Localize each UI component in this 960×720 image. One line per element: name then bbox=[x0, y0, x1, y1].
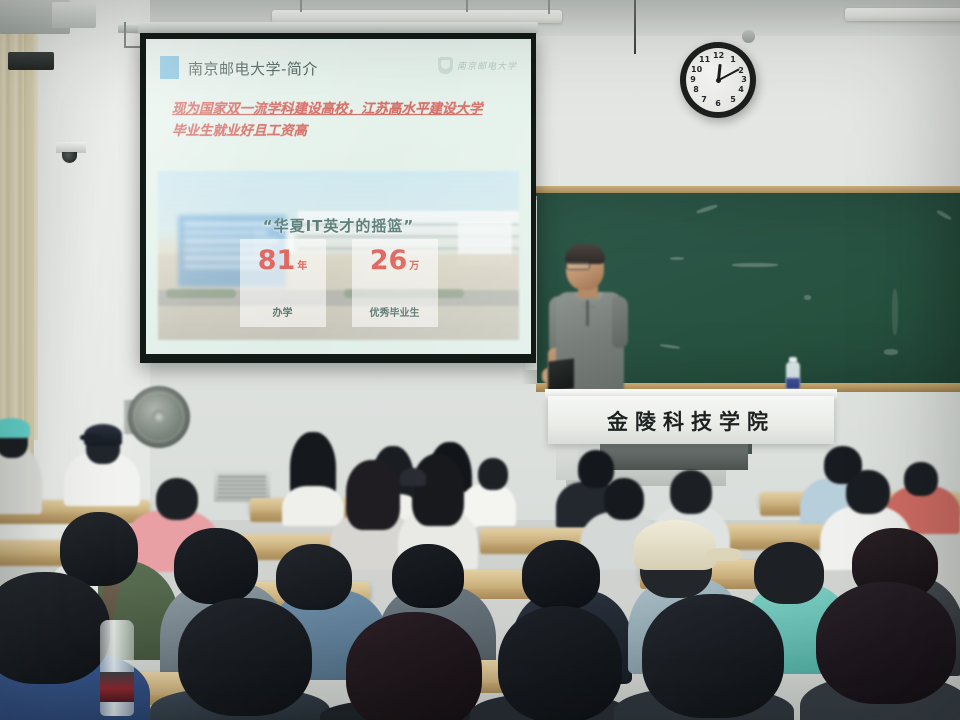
chalk-mark bbox=[732, 263, 778, 267]
podium-shelf bbox=[600, 444, 748, 470]
hair-clip bbox=[400, 468, 426, 486]
glasses-icon bbox=[566, 262, 590, 270]
hanging-cable bbox=[634, 0, 636, 54]
clock-numeral: 10 bbox=[691, 65, 701, 75]
cap-brim bbox=[80, 434, 102, 441]
clock-numeral: 3 bbox=[739, 75, 749, 85]
clock-face: 12 1 2 3 4 5 6 7 8 9 10 11 bbox=[686, 48, 750, 112]
projector-icon bbox=[52, 2, 96, 28]
student-head bbox=[276, 544, 352, 610]
stat-card: 81 年 办学 bbox=[240, 239, 326, 327]
clock-numeral: 5 bbox=[728, 95, 738, 105]
projection-screen[interactable]: 南京邮电大学-简介 南京邮电大学 现为国家双一流学科建设高校，江苏高水平建设大学… bbox=[140, 33, 536, 363]
speaker-icon bbox=[8, 52, 54, 70]
student-head bbox=[846, 470, 890, 514]
slide-accent-bar bbox=[160, 56, 179, 79]
student-head bbox=[642, 594, 784, 718]
student-head bbox=[156, 478, 198, 520]
student-head bbox=[478, 458, 508, 490]
student-hair bbox=[412, 454, 464, 526]
student-head bbox=[0, 572, 110, 684]
stat-label: 优秀毕业生 bbox=[370, 304, 420, 319]
clock-mount bbox=[742, 30, 755, 43]
logo-text: 南京邮电大学 bbox=[457, 59, 517, 72]
student-head bbox=[670, 470, 712, 514]
presenter-placket bbox=[586, 300, 589, 326]
stat-number-wrap: 26 万 bbox=[370, 247, 420, 274]
student-head bbox=[816, 582, 956, 704]
slide-highlight-line-1: 现为国家双一流学科建设高校，江苏高水平建设大学 bbox=[172, 99, 512, 121]
stat-number: 81 bbox=[258, 247, 296, 274]
light-rod bbox=[300, 0, 302, 12]
presenter-hair bbox=[565, 244, 605, 264]
student-head bbox=[178, 598, 312, 716]
clock-numeral: 9 bbox=[688, 75, 698, 85]
stat-card: 26 万 优秀毕业生 bbox=[352, 239, 438, 327]
clock-numeral: 7 bbox=[699, 95, 709, 105]
chalk-mark bbox=[884, 349, 898, 355]
student-head bbox=[346, 612, 482, 720]
slide-highlight-line-2: 毕业生就业好且工资高 bbox=[172, 121, 512, 143]
student-head bbox=[754, 542, 824, 604]
fan-hub bbox=[152, 410, 166, 424]
student-head bbox=[604, 478, 644, 520]
cap-brim bbox=[706, 548, 742, 561]
student-hair bbox=[346, 460, 400, 530]
light-rod bbox=[548, 0, 550, 14]
student-head bbox=[392, 544, 464, 608]
student-body bbox=[282, 486, 344, 526]
lecture-hall-scene: 12 1 2 3 4 5 6 7 8 9 10 11 bbox=[0, 0, 960, 720]
chalk-mark bbox=[660, 344, 680, 350]
clock-numeral: 4 bbox=[736, 85, 746, 95]
water-bottle-label bbox=[786, 378, 800, 389]
student-head bbox=[522, 540, 600, 610]
student-head bbox=[578, 450, 614, 488]
podium: 金陵科技学院 bbox=[548, 396, 834, 444]
clock-center-pin bbox=[716, 78, 721, 83]
fluorescent-tube-light-right bbox=[845, 8, 960, 21]
teal-cap bbox=[0, 418, 30, 438]
chalk-smudge bbox=[892, 289, 898, 335]
student-head bbox=[174, 528, 258, 604]
shield-icon bbox=[438, 57, 453, 74]
student-head bbox=[904, 462, 938, 496]
stat-unit: 年 bbox=[297, 262, 307, 272]
stat-number: 26 bbox=[370, 247, 408, 274]
stat-unit: 万 bbox=[409, 262, 419, 272]
clock-numeral: 12 bbox=[713, 51, 723, 61]
podium-inscription: 金陵科技学院 bbox=[548, 406, 834, 436]
water-bottle-audience-label bbox=[100, 672, 134, 702]
wall-clock: 12 1 2 3 4 5 6 7 8 9 10 11 bbox=[680, 42, 756, 118]
clock-numeral: 6 bbox=[713, 99, 723, 109]
stat-label: 办学 bbox=[273, 304, 293, 319]
laptop-icon bbox=[548, 358, 574, 391]
clock-numeral: 8 bbox=[691, 85, 701, 95]
chalk-mark bbox=[804, 295, 811, 300]
chalk-mark bbox=[696, 204, 718, 215]
clock-numeral: 11 bbox=[699, 55, 709, 65]
slide-highlight-text: 现为国家双一流学科建设高校，江苏高水平建设大学 毕业生就业好且工资高 bbox=[172, 99, 512, 143]
slide-stats: 81 年 办学 26 万 优秀毕业生 bbox=[146, 239, 531, 327]
stat-number-wrap: 81 年 bbox=[258, 247, 308, 274]
presentation-slide: 南京邮电大学-简介 南京邮电大学 现为国家双一流学科建设高校，江苏高水平建设大学… bbox=[146, 39, 531, 354]
clock-numeral: 1 bbox=[728, 55, 738, 65]
presenter-right-sleeve bbox=[612, 296, 628, 348]
chalk-mark bbox=[670, 257, 684, 260]
student-head bbox=[498, 606, 622, 720]
light-rod bbox=[466, 0, 468, 12]
slide-quote: “华夏IT英才的摇篮” bbox=[146, 215, 531, 236]
university-logo: 南京邮电大学 bbox=[438, 57, 517, 74]
blackboard-top-trim bbox=[536, 186, 960, 193]
beige-cap bbox=[634, 520, 716, 570]
student-head bbox=[60, 512, 138, 586]
chalk-mark bbox=[936, 209, 952, 220]
slide-title: 南京邮电大学-简介 bbox=[188, 58, 318, 79]
